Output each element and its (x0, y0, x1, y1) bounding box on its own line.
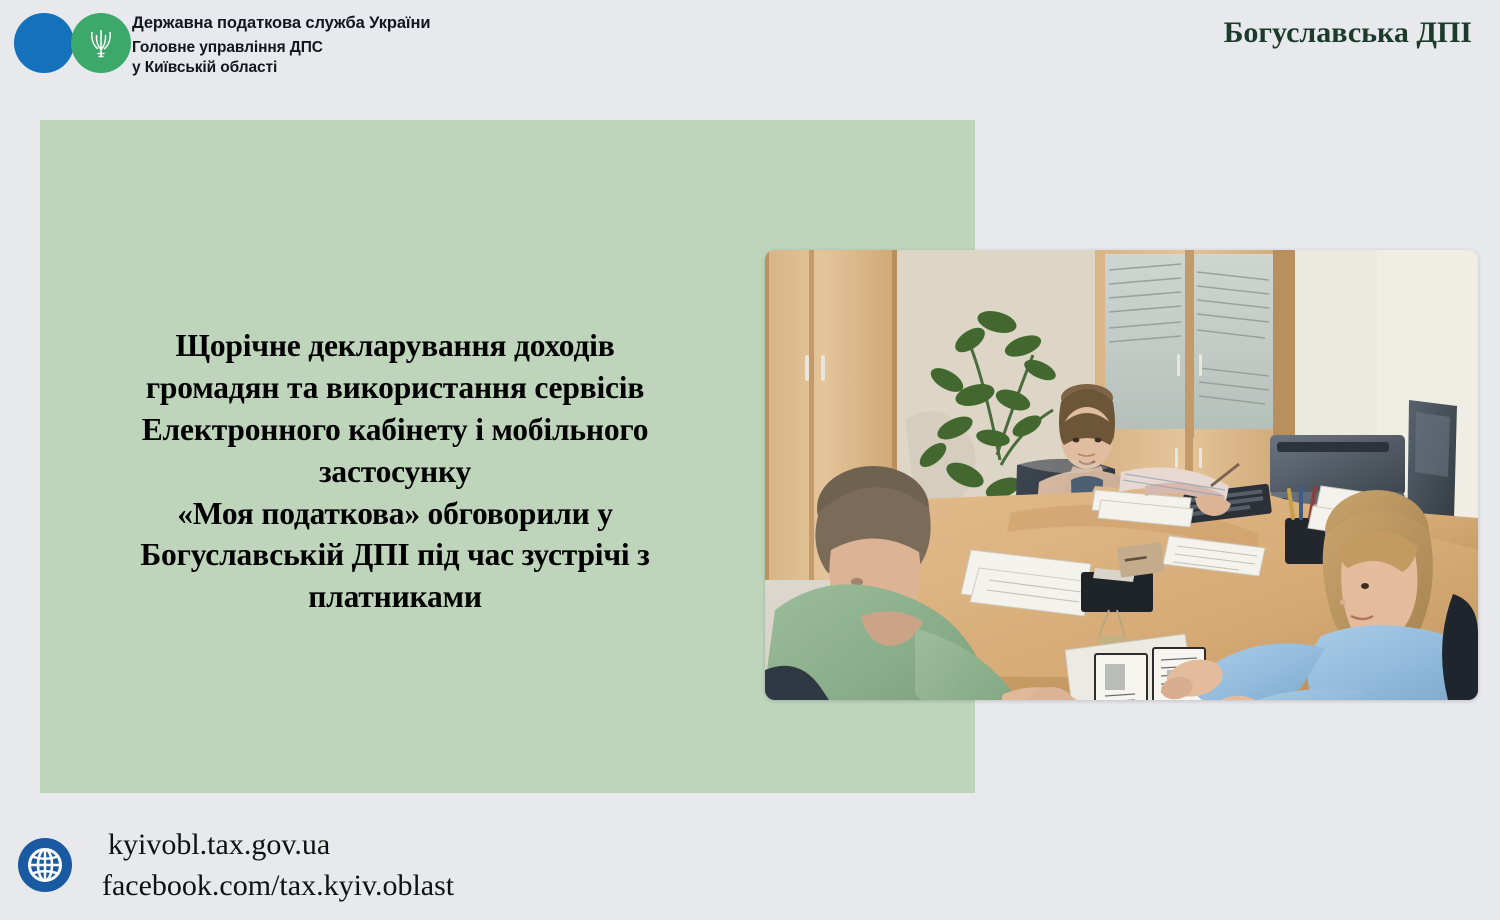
headline-line: Щорічне декларування доходів (40, 325, 750, 367)
footer-links: kyivobl.tax.gov.ua facebook.com/tax.kyiv… (102, 824, 454, 907)
headline-line: «Моя податкова» обговорили у (40, 493, 750, 535)
blue-circle-mark (14, 13, 74, 73)
agency-name-block: Державна податкова служба України Головн… (132, 11, 430, 78)
agency-line-1: Державна податкова служба України (132, 13, 430, 34)
ukraine-trident-icon (88, 26, 114, 60)
page-header: Державна податкова служба України Головн… (0, 0, 1500, 92)
meeting-photo-illustration (765, 250, 1478, 700)
page-footer: kyivobl.tax.gov.ua facebook.com/tax.kyiv… (0, 810, 1500, 920)
brand-block: Державна податкова служба України Головн… (0, 0, 430, 78)
agency-line-3: у Київській області (132, 58, 430, 78)
website-link[interactable]: kyivobl.tax.gov.ua (102, 824, 454, 865)
headline-line: застосунку (40, 451, 750, 493)
headline-line: громадян та використання сервісів (40, 367, 750, 409)
headline-line: Богуславській ДПІ під час зустрічі з (40, 534, 750, 576)
agency-logo (14, 11, 132, 73)
headline-line: Електронного кабінету і мобільного (40, 409, 750, 451)
facebook-link[interactable]: facebook.com/tax.kyiv.oblast (102, 865, 454, 906)
meeting-photo (765, 250, 1478, 700)
green-circle-trident-mark (71, 13, 131, 73)
headline-line: платниками (40, 576, 750, 618)
agency-line-2: Головне управління ДПС (132, 38, 430, 58)
office-name: Богуславська ДПІ (1224, 0, 1500, 50)
globe-icon (18, 838, 72, 892)
headline: Щорічне декларування доходів громадян та… (40, 325, 750, 618)
